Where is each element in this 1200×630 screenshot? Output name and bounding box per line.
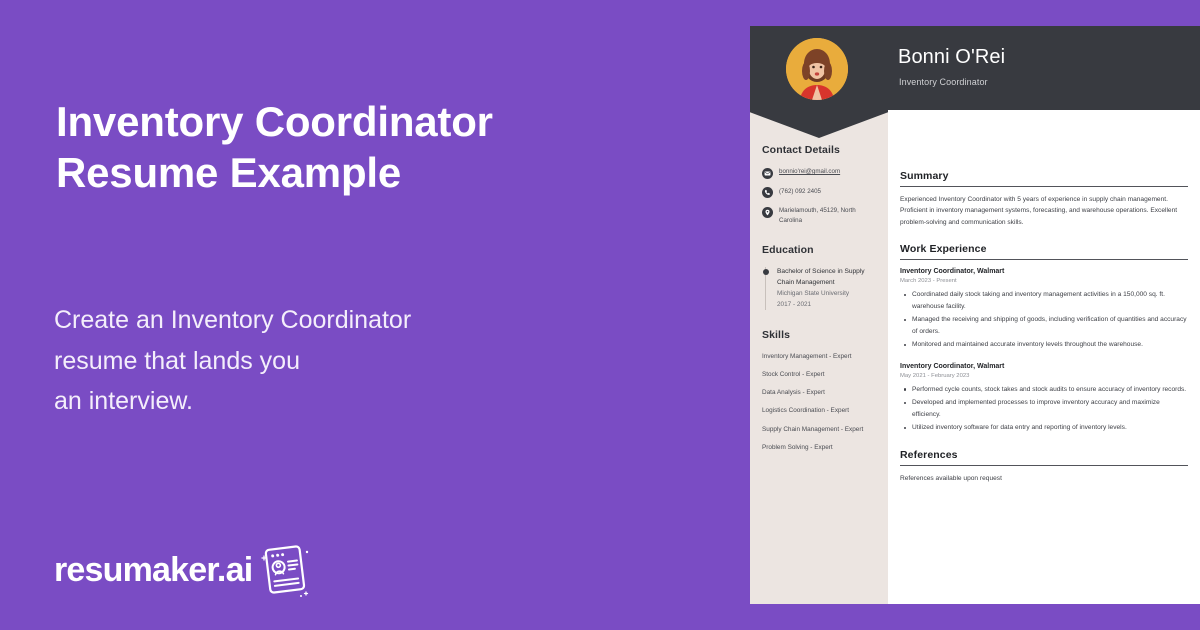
education-section: Education Bachelor of Science in Supply … (762, 244, 876, 310)
job-bullet: Utilized inventory software for data ent… (912, 422, 1188, 433)
headline-line-1: Inventory Coordinator (56, 96, 676, 147)
education-item: Bachelor of Science in Supply Chain Mana… (765, 267, 876, 310)
job-bullet: Performed cycle counts, stock takes and … (912, 384, 1188, 395)
job-bullet: Coordinated daily stock taking and inven… (912, 289, 1188, 312)
resume-preview-card[interactable]: Bonni O'Rei Inventory Coordinator Contac… (750, 26, 1200, 604)
subtext-line-3: an interview. (54, 381, 614, 422)
references-text: References available upon request (900, 473, 1188, 484)
page-title: Inventory Coordinator Resume Example (56, 96, 676, 198)
summary-section: Summary Experienced Inventory Coordinato… (900, 170, 1188, 228)
resume-main-content: Summary Experienced Inventory Coordinato… (900, 170, 1188, 499)
skills-section: Skills Inventory Management - Expert Sto… (762, 329, 876, 453)
location-pin-icon (762, 207, 773, 218)
subtext-line-1: Create an Inventory Coordinator (54, 300, 614, 341)
skills-heading: Skills (762, 329, 876, 341)
education-heading: Education (762, 244, 876, 256)
education-degree: Bachelor of Science in Supply Chain Mana… (777, 267, 876, 289)
skill-item: Logistics Coordination - Expert (762, 406, 876, 416)
skill-item: Inventory Management - Expert (762, 352, 876, 362)
references-heading: References (900, 449, 1188, 466)
work-experience-section: Work Experience Inventory Coordinator, W… (900, 243, 1188, 433)
contact-email-row[interactable]: bonnio'rei@gmail.com (762, 167, 876, 179)
job-title: Inventory Coordinator, Walmart (900, 267, 1188, 277)
skill-item: Supply Chain Management - Expert (762, 425, 876, 435)
resume-name: Bonni O'Rei (898, 46, 1005, 69)
job-bullet: Managed the receiving and shipping of go… (912, 314, 1188, 337)
education-school: Michigan State University (777, 289, 876, 300)
job-bullet-list: Performed cycle counts, stock takes and … (900, 384, 1188, 434)
summary-text: Experienced Inventory Coordinator with 5… (900, 194, 1188, 228)
resume-document-icon (258, 542, 312, 598)
summary-heading: Summary (900, 170, 1188, 187)
promo-subtext: Create an Inventory Coordinator resume t… (54, 300, 614, 422)
references-section: References References available upon req… (900, 449, 1188, 484)
subtext-line-2: resume that lands you (54, 341, 614, 382)
job-bullet: Developed and implemented processes to i… (912, 397, 1188, 420)
skill-item: Data Analysis - Expert (762, 388, 876, 398)
job-dates: May 2021 - February 2023 (900, 372, 1188, 380)
work-experience-heading: Work Experience (900, 243, 1188, 260)
job-dates: March 2023 - Present (900, 277, 1188, 285)
contact-phone-value: (762) 092 2405 (779, 187, 821, 197)
education-years: 2017 - 2021 (777, 300, 876, 311)
envelope-icon (762, 168, 773, 179)
contact-email-value[interactable]: bonnio'rei@gmail.com (779, 167, 840, 177)
job-bullet-list: Coordinated daily stock taking and inven… (900, 289, 1188, 350)
brand-logo-text: resumaker.ai (54, 553, 252, 587)
avatar (786, 38, 848, 100)
skill-item: Problem Solving - Expert (762, 443, 876, 453)
promo-panel: Inventory Coordinator Resume Example Cre… (0, 0, 750, 630)
contact-details-heading: Contact Details (762, 144, 876, 156)
job-entry: Inventory Coordinator, Walmart March 202… (900, 267, 1188, 350)
job-title: Inventory Coordinator, Walmart (900, 362, 1188, 372)
contact-phone-row[interactable]: (762) 092 2405 (762, 187, 876, 199)
contact-location-row: Marielamouth, 45129, North Carolina (762, 206, 876, 225)
brand-logo[interactable]: resumaker.ai (54, 542, 312, 598)
phone-icon (762, 187, 773, 198)
resume-role: Inventory Coordinator (899, 77, 988, 87)
resume-sidebar-content: Contact Details bonnio'rei@gmail.com (76… (750, 144, 888, 472)
resume-header-band: Bonni O'Rei Inventory Coordinator (750, 26, 1200, 110)
headline-line-2: Resume Example (56, 147, 676, 198)
skill-item: Stock Control - Expert (762, 370, 876, 380)
job-bullet: Monitored and maintained accurate invent… (912, 339, 1188, 350)
job-entry: Inventory Coordinator, Walmart May 2021 … (900, 362, 1188, 434)
contact-details-section: Contact Details bonnio'rei@gmail.com (76… (762, 144, 876, 225)
contact-location-value: Marielamouth, 45129, North Carolina (779, 206, 876, 225)
